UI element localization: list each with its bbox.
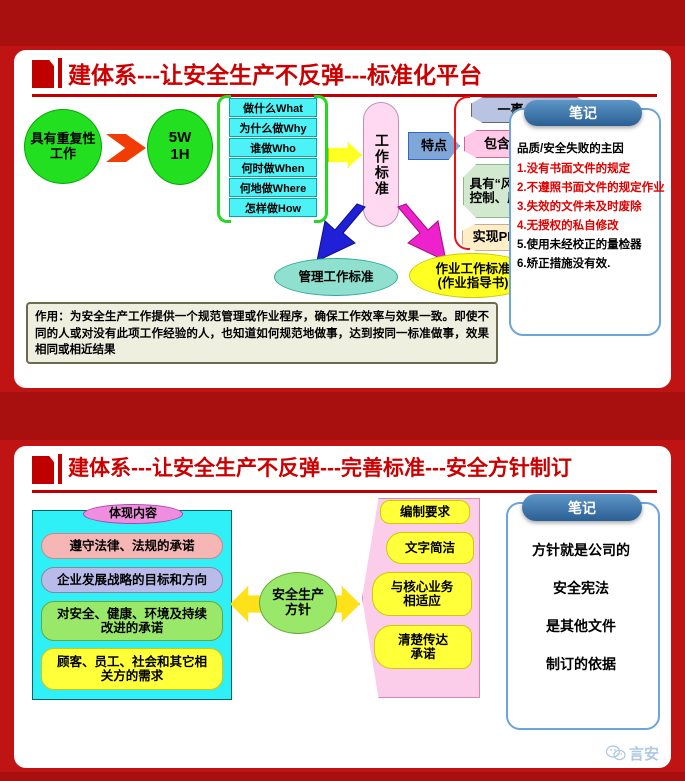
title-underline	[32, 94, 657, 97]
element-who: 谁做Who	[229, 138, 317, 157]
watermark-text: 言安	[629, 743, 659, 764]
feature-label: 特点	[408, 132, 460, 160]
element-why: 为什么做Why	[229, 118, 317, 137]
chevron-arrow-icon	[106, 134, 146, 162]
element-where: 何地做Where	[229, 178, 317, 197]
slide1-title-row: 建体系---让安全生产不反弹---标准化平台	[14, 50, 671, 94]
element-how: 怎样做How	[229, 198, 317, 217]
notes-line-2: 2.不遵照书面文件的规定作业	[517, 179, 671, 195]
requirement-item-3: 清楚传达承诺	[374, 625, 472, 669]
blue-arrow-icon	[309, 203, 371, 265]
page-title: 建体系---让安全生产不反弹---完善标准---安全方针制订	[68, 452, 572, 482]
output-management-standard: 管理工作标准	[274, 258, 398, 296]
notes-body: 品质/安全失败的主因 1.没有书面文件的规定 2.不遵照书面文件的规定作业 3.…	[517, 140, 671, 271]
policy-content-panel: 体现内容 遵守法律、法规的承诺 企业发展战略的目标和方向 对安全、健康、环境及持…	[32, 510, 232, 700]
poster-page: 建体系---让安全生产不反弹---标准化平台 具有重复性工作 5W1H 做什么W…	[0, 0, 685, 781]
notes-line-5: 5.使用未经校正的量检器	[517, 236, 671, 252]
slide1-canvas: 具有重复性工作 5W1H 做什么What 为什么做Why 谁做Who 何时做Wh…	[14, 98, 671, 388]
notes-line-4: 4.无授权的私自修改	[517, 217, 671, 233]
policy-core-node: 安全生产方针	[259, 572, 337, 634]
slide2-title-row: 建体系---让安全生产不反弹---完善标准---安全方针制订	[14, 446, 671, 490]
notes-cap-label: 笔记	[522, 494, 642, 521]
page-flag-icon	[32, 60, 54, 88]
slide2-canvas: 体现内容 遵守法律、法规的承诺 企业发展战略的目标和方向 对安全、健康、环境及持…	[14, 494, 671, 768]
bottom-band	[0, 772, 685, 781]
requirement-item-1: 文字简洁	[386, 532, 474, 564]
watermark: 言安	[606, 743, 659, 764]
content-item-2: 企业发展战略的目标和方向	[41, 567, 223, 593]
page-flag-icon	[32, 456, 54, 484]
notes-line-4: 制订的依据	[546, 654, 616, 674]
middle-band	[0, 392, 685, 440]
page-title: 建体系---让安全生产不反弹---标准化平台	[68, 56, 482, 90]
element-what: 做什么What	[229, 98, 317, 117]
title-divider-bar	[58, 58, 62, 88]
notes-cap-label: 笔记	[524, 100, 642, 126]
wechat-icon	[606, 745, 626, 762]
title-underline	[32, 490, 657, 493]
content-item-1: 遵守法律、法规的承诺	[41, 533, 223, 559]
yellow-arrow-icon	[328, 142, 362, 168]
notes-heading: 品质/安全失败的主因	[517, 140, 671, 156]
slide-safety-policy: 建体系---让安全生产不反弹---完善标准---安全方针制订 体现内容 遵守法律…	[14, 446, 671, 768]
notes-line-3: 3.失效的文件未及时废除	[517, 198, 671, 214]
flow-start-node: 具有重复性工作	[24, 109, 102, 184]
requirement-caption: 编制要求	[380, 500, 470, 524]
notes-body: 方针就是公司的 安全宪法 是其他文件 制订的依据	[506, 540, 656, 674]
purpose-note-box: 作用：为安全生产工作提供一个规范管理或作业程序，确保工作效率与效果一致。即使不同…	[26, 302, 498, 364]
notes-line-2: 安全宪法	[553, 578, 609, 598]
requirement-item-2: 与核心业务相适应	[372, 572, 472, 616]
notes-line-1: 1.没有书面文件的规定	[517, 160, 671, 176]
content-caption: 体现内容	[83, 504, 183, 524]
top-band	[0, 0, 685, 46]
notes-line-3: 是其他文件	[546, 616, 616, 636]
content-item-3: 对安全、健康、环境及持续改进的承诺	[41, 601, 223, 641]
content-item-4: 顾客、员工、社会和其它相关方的需求	[41, 648, 223, 690]
notes-line-1: 方针就是公司的	[532, 540, 630, 560]
element-when: 何时做When	[229, 158, 317, 177]
slide-standardization-platform: 建体系---让安全生产不反弹---标准化平台 具有重复性工作 5W1H 做什么W…	[14, 50, 671, 388]
flow-5w1h-node: 5W1H	[147, 109, 213, 185]
notes-line-6: 6.矫正措施没有效.	[517, 255, 671, 271]
title-divider-bar	[58, 454, 62, 484]
